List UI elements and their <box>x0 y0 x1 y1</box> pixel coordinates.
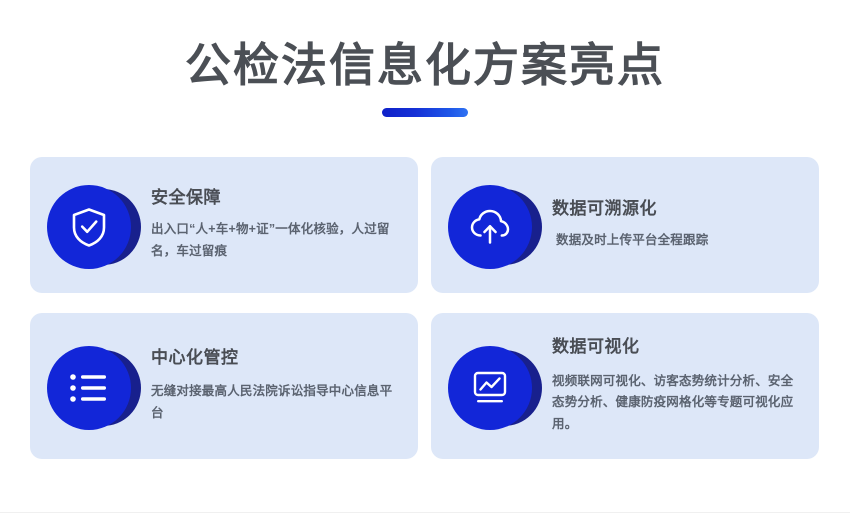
feature-card-data-traceability[interactable]: 数据可溯源化 数据及时上传平台全程跟踪 <box>431 157 819 293</box>
shield-check-icon <box>69 206 109 248</box>
card-text-block: 数据可溯源化 数据及时上传平台全程跟踪 <box>552 199 805 252</box>
card-text-block: 中心化管控 无缝对接最高人民法院诉讼指导中心信息平台 <box>151 348 404 424</box>
card-title: 数据可溯源化 <box>552 199 805 219</box>
card-title: 数据可视化 <box>552 337 805 357</box>
icon-medallion <box>448 342 542 430</box>
medallion-main-disc <box>47 185 131 269</box>
title-underline-accent <box>382 108 468 117</box>
page-header: 公检法信息化方案亮点 <box>0 0 850 117</box>
monitor-chart-icon <box>469 369 511 407</box>
card-description: 无缝对接最高人民法院诉讼指导中心信息平台 <box>151 381 404 424</box>
medallion-main-disc <box>47 346 131 430</box>
list-bullet-icon <box>68 371 110 405</box>
cloud-upload-icon <box>468 207 512 247</box>
feature-card-grid: 安全保障 出入口“人+车+物+证”一体化核验，人过留名，车过留痕 <box>30 157 820 459</box>
card-text-block: 数据可视化 视频联网可视化、访客态势统计分析、安全态势分析、健康防疫网格化等专题… <box>552 337 805 435</box>
page-bottom-divider <box>0 512 850 513</box>
card-title: 中心化管控 <box>151 348 404 368</box>
card-description: 视频联网可视化、访客态势统计分析、安全态势分析、健康防疫网格化等专题可视化应用。 <box>552 371 805 436</box>
card-description: 数据及时上传平台全程跟踪 <box>552 230 805 252</box>
feature-card-data-visualization[interactable]: 数据可视化 视频联网可视化、访客态势统计分析、安全态势分析、健康防疫网格化等专题… <box>431 313 819 459</box>
icon-medallion <box>448 181 542 269</box>
feature-card-security[interactable]: 安全保障 出入口“人+车+物+证”一体化核验，人过留名，车过留痕 <box>30 157 418 293</box>
card-title: 安全保障 <box>151 188 404 208</box>
icon-medallion <box>47 181 141 269</box>
medallion-main-disc <box>448 346 532 430</box>
card-text-block: 安全保障 出入口“人+车+物+证”一体化核验，人过留名，车过留痕 <box>151 188 404 262</box>
feature-highlights-page: 公检法信息化方案亮点 安全保障 出入口“人+车+物+证”一体化核验，人 <box>0 0 850 516</box>
icon-medallion <box>47 342 141 430</box>
medallion-main-disc <box>448 185 532 269</box>
page-title: 公检法信息化方案亮点 <box>0 38 850 92</box>
feature-card-centralized-control[interactable]: 中心化管控 无缝对接最高人民法院诉讼指导中心信息平台 <box>30 313 418 459</box>
card-description: 出入口“人+车+物+证”一体化核验，人过留名，车过留痕 <box>151 219 404 262</box>
